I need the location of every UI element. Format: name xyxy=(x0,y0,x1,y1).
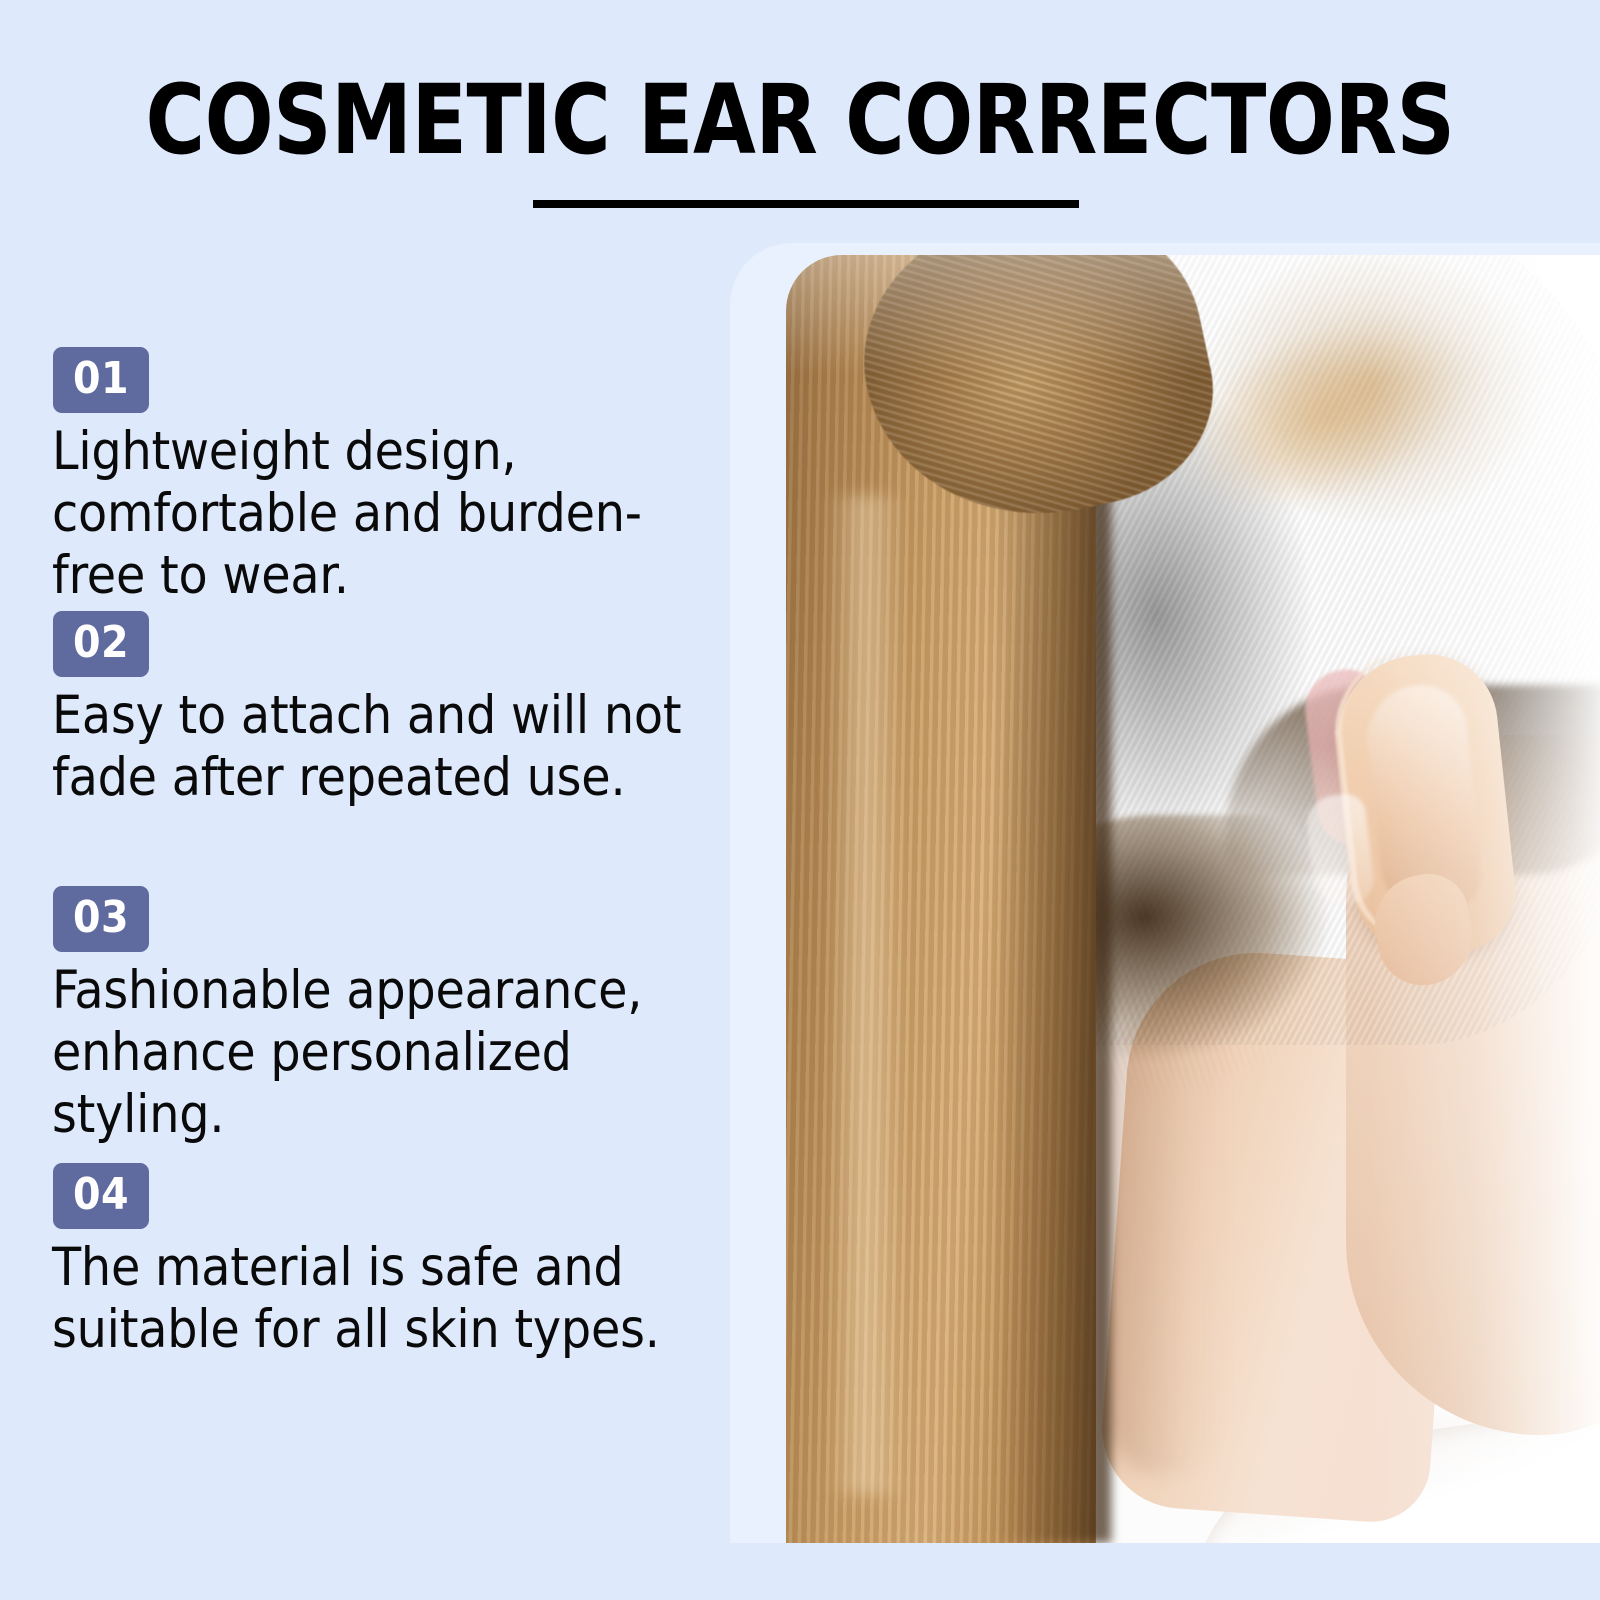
page-title: COSMETIC EAR CORRECTORS xyxy=(48,68,1552,172)
feature-item-04: 04 The material is safe and suitable for… xyxy=(0,1163,730,1361)
photo-top-fade xyxy=(786,255,1600,375)
feature-text-01: Lightweight design, comfortable and burd… xyxy=(52,421,722,607)
feature-item-02: 02 Easy to attach and will not fade afte… xyxy=(0,611,730,809)
feature-item-03: 03 Fashionable appearance, enhance perso… xyxy=(0,886,730,1146)
feature-badge-01: 01 xyxy=(53,347,149,413)
infographic-page: COSMETIC EAR CORRECTORS 01 Lightweight d… xyxy=(0,0,1600,1600)
feature-badge-04: 04 xyxy=(53,1163,149,1229)
feature-badge-03: 03 xyxy=(53,886,149,952)
feature-badge-02: 02 xyxy=(53,611,149,677)
header: COSMETIC EAR CORRECTORS xyxy=(0,0,1600,235)
feature-text-03: Fashionable appearance, enhance personal… xyxy=(52,960,722,1146)
product-photo-panel xyxy=(786,255,1600,1543)
feature-list: 01 Lightweight design, comfortable and b… xyxy=(0,330,740,1450)
product-photo xyxy=(786,255,1600,1543)
feature-text-02: Easy to attach and will not fade after r… xyxy=(52,685,722,809)
feature-text-04: The material is safe and suitable for al… xyxy=(52,1237,722,1361)
title-underline-rule xyxy=(533,200,1079,208)
photo-right-fade xyxy=(1370,255,1600,1543)
photo-ponytail-highlight xyxy=(826,495,906,1495)
feature-item-01: 01 Lightweight design, comfortable and b… xyxy=(0,347,730,607)
